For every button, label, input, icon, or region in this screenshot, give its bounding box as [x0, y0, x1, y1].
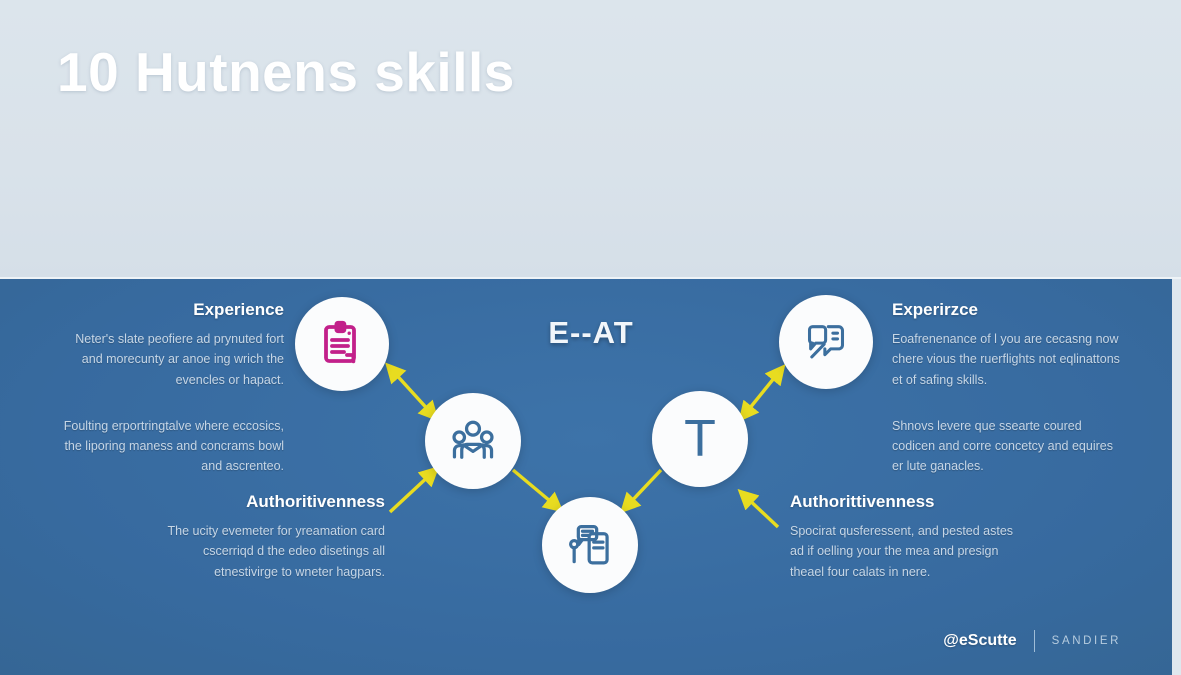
node-circle-clipboard[interactable] — [295, 297, 389, 391]
node-circle-trust[interactable]: T — [652, 391, 748, 487]
paragraph-left-bottom-1: The ucity evemeter for yreamation card c… — [140, 521, 385, 582]
people-group-icon — [448, 416, 498, 466]
paragraph-right-bottom-1: Spocirat qusferessent, and pested astes … — [790, 521, 1030, 582]
heading-experience-right: Experirzce — [892, 300, 1124, 320]
node-circle-document[interactable] — [542, 497, 638, 593]
footer-sub-label: SANDIER — [1052, 635, 1121, 647]
paragraph-right-top-2: Shnovs levere que ssearte coured codicen… — [892, 416, 1124, 477]
letter-t-icon: T — [684, 413, 716, 465]
page-title: 10 Hutnens skills — [57, 40, 515, 104]
slide-canvas: 10 Hutnens skills — [0, 0, 1181, 675]
text-block-left-bottom: Authoritivenness The ucity evemeter for … — [140, 492, 385, 582]
heading-experience-left: Experience — [54, 300, 284, 320]
node-circle-chat[interactable] — [779, 295, 873, 389]
text-block-left-top: Experience Neter's slate peofiere ad pry… — [54, 300, 284, 477]
text-block-right-bottom: Authorittivenness Spocirat qusferessent,… — [790, 492, 1030, 582]
center-label: E--AT — [498, 315, 684, 351]
footer-brand-label: @eScutte — [943, 632, 1016, 650]
footer-divider — [1034, 630, 1035, 652]
clipboard-icon — [318, 320, 366, 368]
text-block-right-top: Experirzce Eoafrenenance of l you are ce… — [892, 300, 1124, 477]
paragraph-left-top-1: Neter's slate peofiere ad prynuted fort … — [54, 329, 284, 390]
document-search-icon — [565, 520, 615, 570]
node-circle-people[interactable] — [425, 393, 521, 489]
paragraph-right-top-1: Eoafrenenance of l you are cecasng now c… — [892, 329, 1124, 390]
speech-bubble-icon — [803, 319, 849, 365]
heading-authoritativeness-left: Authoritivenness — [140, 492, 385, 512]
header-band: 10 Hutnens skills — [0, 0, 1181, 279]
paragraph-left-top-2: Foulting erportringtalve where eccosics,… — [54, 416, 284, 477]
footer: @eScutte SANDIER — [943, 630, 1121, 652]
heading-authoritativeness-right: Authorittivenness — [790, 492, 1030, 512]
